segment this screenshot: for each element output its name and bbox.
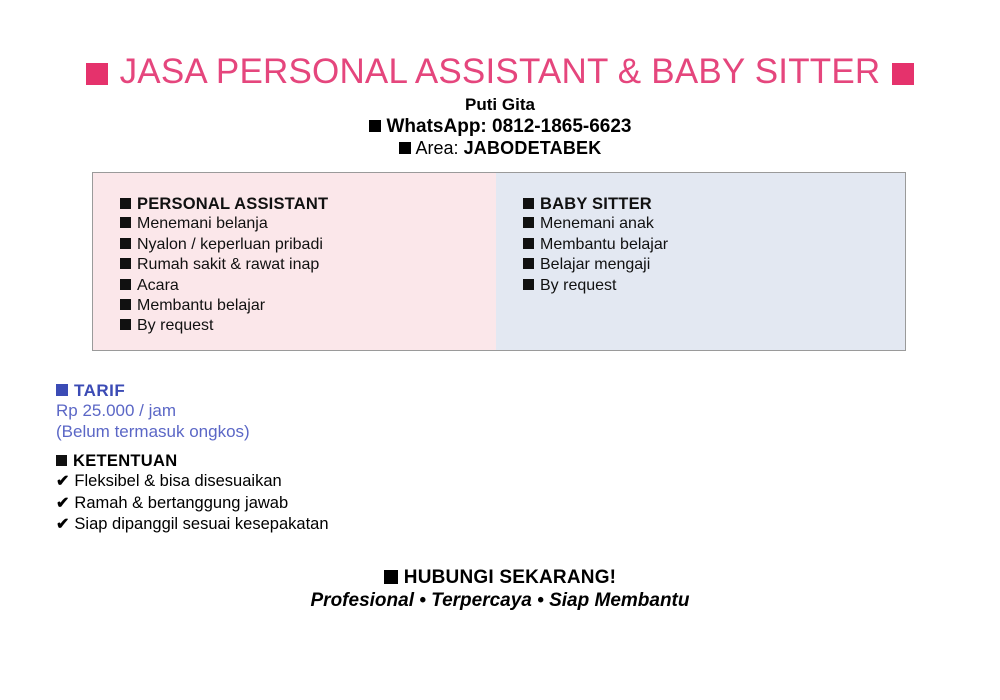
list-item-label: Fleksibel & bisa disesuaikan [74, 472, 281, 490]
black-square-icon [523, 279, 534, 290]
list-item: Membantu belajar [120, 296, 496, 316]
black-square-icon [120, 198, 131, 209]
whatsapp-contact[interactable]: WhatsApp: 0812-1865-6623 [0, 116, 1000, 138]
list-item: ✔Fleksibel & bisa disesuaikan [56, 471, 329, 493]
whatsapp-contact-text: WhatsApp: 0812-1865-6623 [387, 116, 632, 137]
black-square-icon [120, 279, 131, 290]
tarif-price: Rp 25.000 / jam [56, 401, 176, 421]
ketentuan-list: ✔Fleksibel & bisa disesuaikan ✔Ramah & b… [56, 471, 329, 536]
call-to-action[interactable]: HUBUNGI SEKARANG! [0, 567, 1000, 589]
list-item-label: Siap dipanggil sesuai kesepakatan [74, 515, 328, 533]
list-item: Menemani anak [523, 214, 905, 234]
services-box: PERSONAL ASSISTANT Menemani belanja Nyal… [92, 172, 906, 351]
black-square-icon-cta [384, 570, 398, 584]
black-square-icon [523, 198, 534, 209]
call-to-action-text: HUBUNGI SEKARANG! [404, 567, 616, 588]
check-icon: ✔ [56, 515, 69, 536]
tarif-heading-text: TARIF [74, 381, 125, 400]
list-item: ✔Ramah & bertanggung jawab [56, 493, 329, 515]
service-area-label: Area: [416, 138, 459, 158]
black-square-icon [523, 258, 534, 269]
black-square-icon-area [399, 142, 411, 154]
baby-sitter-heading: BABY SITTER [523, 194, 905, 214]
black-square-icon [120, 299, 131, 310]
blue-square-icon [56, 384, 68, 396]
baby-sitter-panel: BABY SITTER Menemani anak Membantu belaj… [496, 173, 905, 350]
list-item: Menemani belanja [120, 214, 496, 234]
list-item-label: By request [137, 317, 213, 334]
list-item-label: Nyalon / keperluan pribadi [137, 236, 323, 253]
pink-square-icon-left [86, 63, 108, 85]
footer-tagline: Profesional • Terpercaya • Siap Membantu [0, 590, 1000, 612]
personal-assistant-heading-text: PERSONAL ASSISTANT [137, 195, 328, 213]
list-item: By request [120, 316, 496, 336]
black-square-icon [523, 217, 534, 228]
list-item: Membantu belajar [523, 235, 905, 255]
black-square-icon [120, 258, 131, 269]
list-item-label: Rumah sakit & rawat inap [137, 256, 319, 273]
flyer-page: JASA PERSONAL ASSISTANT & BABY SITTER Pu… [0, 0, 1000, 700]
list-item-label: Belajar mengaji [540, 256, 650, 273]
list-item-label: Menemani anak [540, 215, 654, 232]
list-item-label: Acara [137, 277, 179, 294]
tarif-note: (Belum termasuk ongkos) [56, 422, 250, 442]
baby-sitter-heading-text: BABY SITTER [540, 195, 652, 213]
list-item: ✔Siap dipanggil sesuai kesepakatan [56, 514, 329, 536]
list-item-label: By request [540, 277, 616, 294]
page-title-text: JASA PERSONAL ASSISTANT & BABY SITTER [120, 52, 881, 91]
black-square-icon [56, 455, 67, 466]
black-square-icon [523, 238, 534, 249]
personal-assistant-list: PERSONAL ASSISTANT Menemani belanja Nyal… [120, 194, 496, 337]
ketentuan-heading-text: KETENTUAN [73, 452, 177, 470]
check-icon: ✔ [56, 494, 69, 515]
check-icon: ✔ [56, 472, 69, 493]
black-square-icon [120, 319, 131, 330]
list-item-label: Ramah & bertanggung jawab [74, 494, 288, 512]
list-item: Belajar mengaji [523, 255, 905, 275]
provider-name: Puti Gita [0, 95, 1000, 115]
baby-sitter-list: BABY SITTER Menemani anak Membantu belaj… [523, 194, 905, 296]
service-area: Area: JABODETABEK [0, 138, 1000, 159]
black-square-icon [120, 238, 131, 249]
page-title: JASA PERSONAL ASSISTANT & BABY SITTER [0, 52, 1000, 92]
list-item-label: Membantu belajar [137, 297, 265, 314]
list-item-label: Menemani belanja [137, 215, 268, 232]
personal-assistant-panel: PERSONAL ASSISTANT Menemani belanja Nyal… [93, 173, 496, 350]
list-item: Rumah sakit & rawat inap [120, 255, 496, 275]
ketentuan-heading: KETENTUAN [56, 452, 177, 471]
service-area-value: JABODETABEK [464, 138, 602, 158]
personal-assistant-heading: PERSONAL ASSISTANT [120, 194, 496, 214]
list-item: Acara [120, 276, 496, 296]
black-square-icon-whatsapp [369, 120, 381, 132]
tarif-heading: TARIF [56, 381, 125, 401]
list-item: Nyalon / keperluan pribadi [120, 235, 496, 255]
list-item-label: Membantu belajar [540, 236, 668, 253]
pink-square-icon-right [892, 63, 914, 85]
list-item: By request [523, 276, 905, 296]
black-square-icon [120, 217, 131, 228]
